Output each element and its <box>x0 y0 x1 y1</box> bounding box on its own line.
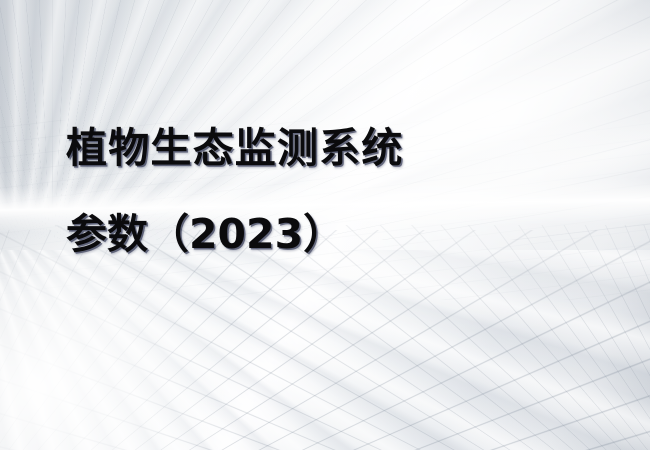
title-slide: 植物生态监测系统 参数（2023） <box>0 0 650 450</box>
background-mesh-lines-left <box>0 230 650 450</box>
slide-title: 植物生态监测系统 参数（2023） <box>66 120 626 262</box>
title-line-primary: 植物生态监测系统 <box>66 120 626 176</box>
title-line-secondary: 参数（2023） <box>66 206 626 262</box>
background-curved-lobes <box>0 250 650 450</box>
